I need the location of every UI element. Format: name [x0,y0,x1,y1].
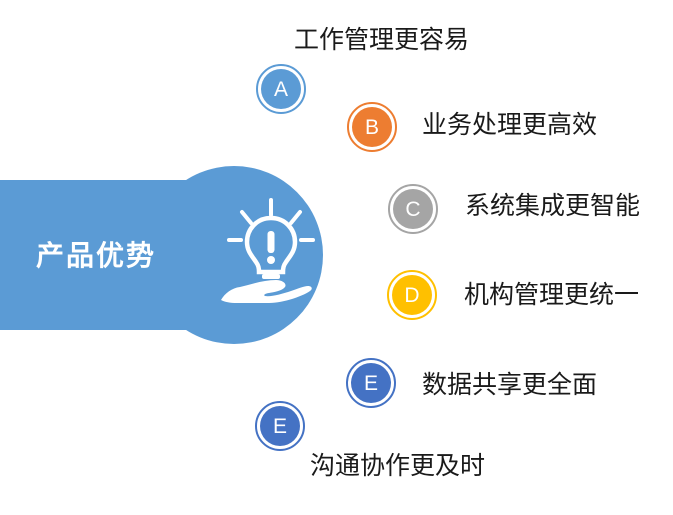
node-circle-b-fill: B [352,107,392,147]
node-circle-f-fill: E [260,406,300,446]
node-circle-d-fill: D [392,275,432,315]
node-circle-b[interactable]: B [347,102,397,152]
node-label-d: 机构管理更统一 [464,279,639,311]
node-letter-b: B [365,117,379,138]
node-circle-a[interactable]: A [256,64,306,114]
node-letter-e: E [364,373,378,394]
node-circle-d[interactable]: D [387,270,437,320]
node-label-e: 数据共享更全面 [422,369,597,401]
node-circle-a-fill: A [261,69,301,109]
node-label-a: 工作管理更容易 [294,24,469,56]
node-letter-f: E [273,416,287,437]
node-circle-c-fill: C [393,189,433,229]
node-letter-a: A [274,79,288,100]
lightbulb-in-hand-icon [219,196,323,306]
node-label-b: 业务处理更高效 [422,109,597,141]
node-letter-c: C [405,199,420,220]
node-label-f: 沟通协作更及时 [310,450,485,482]
node-letter-d: D [404,285,419,306]
node-label-c: 系统集成更智能 [465,190,640,222]
node-circle-e-fill: E [351,363,391,403]
node-circle-c[interactable]: C [388,184,438,234]
diagram-canvas: 产品优势 A 工作管理更容易 B 业务处理更高 [0,0,673,515]
node-circle-e[interactable]: E [346,358,396,408]
banner-title: 产品优势 [36,236,196,276]
node-circle-f[interactable]: E [255,401,305,451]
